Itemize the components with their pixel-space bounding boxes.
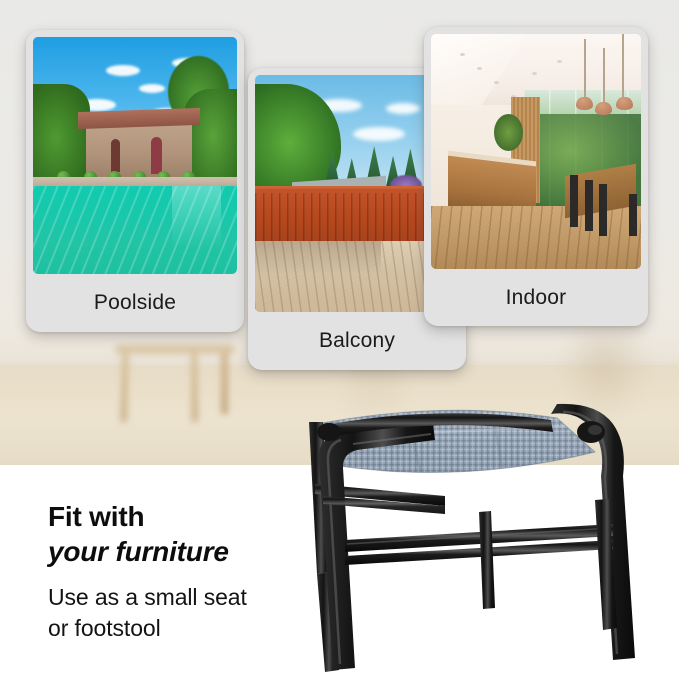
indoor-card-label: Indoor: [506, 286, 567, 310]
footstool-lower-rails: [345, 524, 613, 565]
scene-card-indoor[interactable]: Indoor: [424, 27, 648, 326]
subtext-line-1: Use as a small seat: [48, 582, 348, 613]
product-marketing-image: Poolside Balcony: [0, 0, 679, 677]
footstool-center-strut: [479, 511, 495, 609]
indoor-photo: [431, 34, 641, 269]
headline-line-1: Fit with: [48, 500, 348, 534]
background-table: [115, 345, 235, 425]
indoor-card-caption: Indoor: [424, 269, 648, 326]
subtext-line-2: or footstool: [48, 613, 348, 644]
poolside-card-label: Poolside: [94, 291, 176, 315]
headline-line-2: your furniture: [48, 534, 348, 570]
poolside-card-caption: Poolside: [26, 274, 244, 332]
scene-card-poolside[interactable]: Poolside: [26, 30, 244, 332]
marketing-copy-block: Fit with your furniture Use as a small s…: [48, 500, 348, 644]
product-footstool: [295, 392, 675, 677]
balcony-card-label: Balcony: [319, 329, 395, 353]
poolside-photo: [33, 37, 237, 274]
